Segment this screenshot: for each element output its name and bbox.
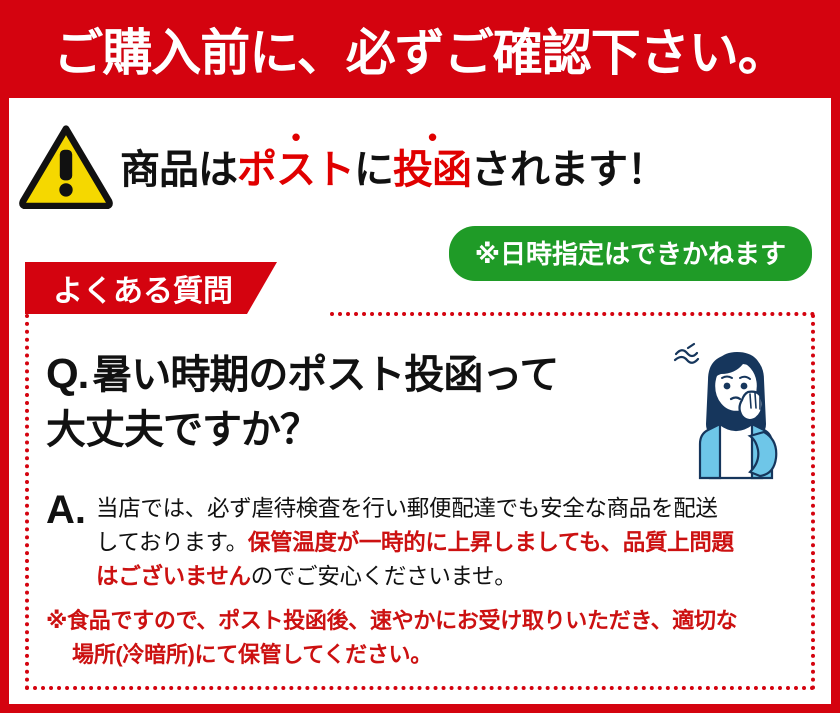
question-prefix: Q. (46, 350, 88, 397)
warning-text-part2: に (354, 148, 393, 192)
worry-mark-icon (675, 344, 698, 363)
answer-line-3: はございませんのでご安心くださいませ。 (96, 560, 746, 594)
faq-note: ※食品ですので、ポスト投函後、速やかにお受け取りいただき、適切な 場所(冷暗所)… (46, 604, 766, 672)
answer-line-3-black: のでご安心くださいませ。 (251, 564, 517, 589)
banner-header: ご購入前に、必ずご確認下さい。 (0, 0, 840, 98)
warning-triangle-icon (18, 123, 114, 209)
faq-answer: A. 当店では、必ず虐待検査を行い郵便配達でも安全な商品を配送 しております。保… (46, 492, 746, 593)
faq-question: Q.暑い時期のポスト投函って 大丈夫ですか？ (46, 346, 686, 457)
answer-line-2-red: 保管温度が一時的に上昇しましても、品質上問題 (248, 530, 734, 555)
question-line-1: Q.暑い時期のポスト投函って (46, 346, 686, 403)
answer-line-2: しております。保管温度が一時的に上昇しましても、品質上問題 (96, 526, 746, 560)
no-date-designation-badge: ※日時指定はできかねます (449, 226, 812, 281)
warning-emphasis-post: ポスト (237, 150, 354, 190)
answer-line-3-red: はございません (96, 564, 251, 589)
warning-text-part1: 商品は (120, 148, 237, 192)
warning-text-part3: されます！ (471, 148, 666, 192)
eye-right (741, 383, 748, 390)
header-title: ご購入前に、必ずご確認下さい。 (53, 13, 787, 85)
faq-dotted-top-edge (330, 312, 815, 316)
warning-text: 商品はポストに投函されます！ (120, 150, 666, 190)
note-line-1: ※食品ですので、ポスト投函後、速やかにお受け取りいただき、適切な (46, 604, 766, 638)
eye-left (724, 383, 731, 390)
post-delivery-notice-banner: ご購入前に、必ずご確認下さい。 商品はポストに投函されます！ ※日時指定はできか… (0, 0, 840, 713)
answer-body: 当店では、必ず虐待検査を行い郵便配達でも安全な商品を配送 しております。保管温度… (96, 492, 746, 593)
answer-prefix: A. (46, 490, 86, 591)
worried-woman-illustration (668, 336, 818, 486)
answer-line-2-black: しております。 (96, 530, 248, 555)
note-line-2: 場所(冷暗所)にて保管してください。 (46, 638, 766, 672)
answer-line-1: 当店では、必ず虐待検査を行い郵便配達でも安全な商品を配送 (96, 492, 746, 526)
question-text-1: 暑い時期のポスト投函って (92, 353, 558, 397)
warning-row: 商品はポストに投函されます！ (18, 118, 822, 214)
question-line-2: 大丈夫ですか？ (46, 403, 686, 457)
faq-ribbon: よくある質問 (25, 262, 277, 314)
warning-emphasis-touka: 投函 (393, 150, 471, 190)
